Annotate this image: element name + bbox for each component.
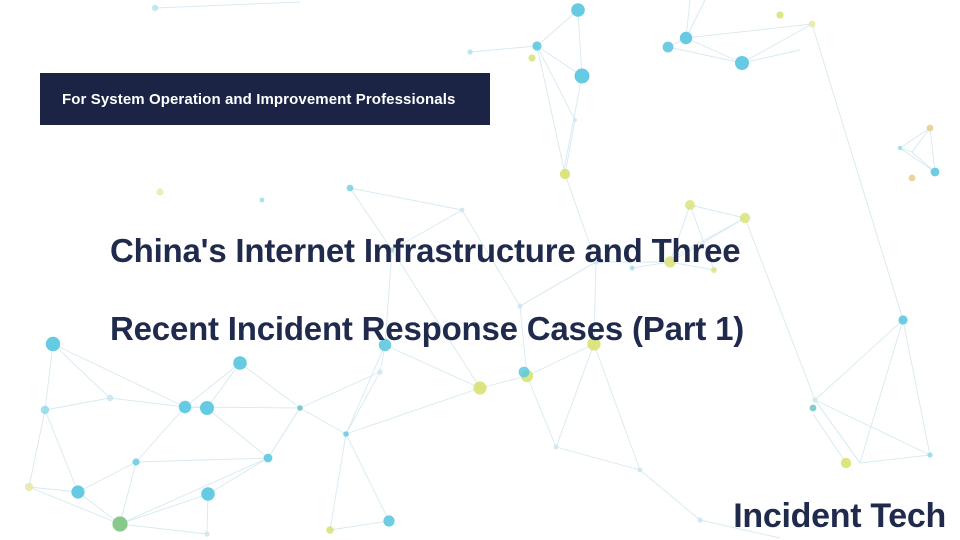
page-title: China's Internet Infrastructure and Thre… [110,212,900,368]
title-line-1: China's Internet Infrastructure and Thre… [110,212,900,290]
kicker-banner: For System Operation and Improvement Pro… [40,73,490,125]
title-slide: For System Operation and Improvement Pro… [0,0,960,540]
title-line-2: Recent Incident Response Cases (Part 1) [110,290,900,368]
kicker-label: For System Operation and Improvement Pro… [40,91,455,108]
brand-logo: Incident Tech [733,497,946,536]
